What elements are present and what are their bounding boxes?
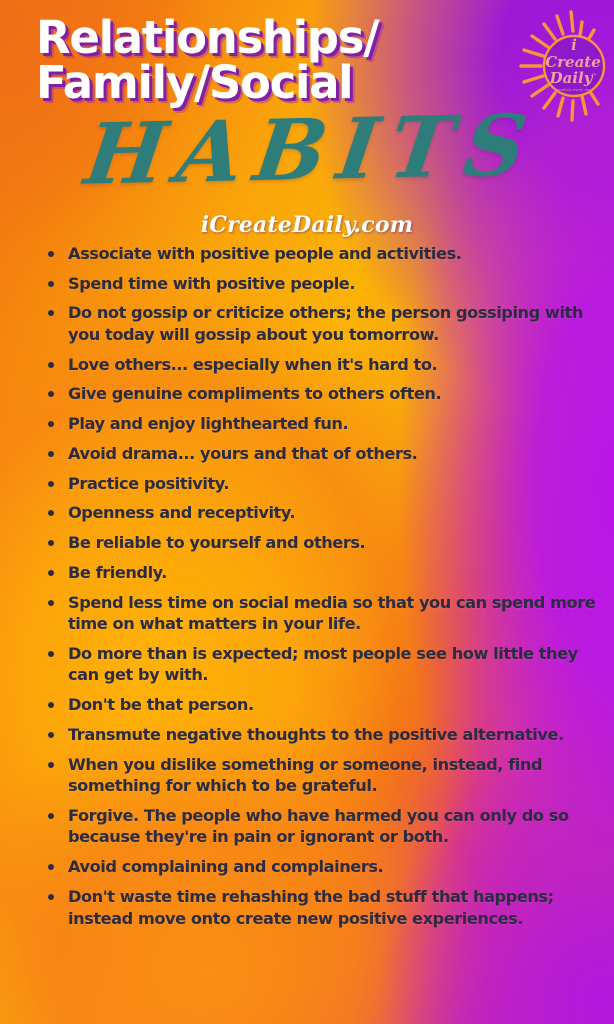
list-item: Avoid drama... yours and that of others. bbox=[64, 443, 596, 465]
list-item: Play and enjoy lighthearted fun. bbox=[64, 413, 596, 435]
list-item: Be reliable to yourself and others. bbox=[64, 532, 596, 554]
list-item: Associate with positive people and activ… bbox=[64, 243, 596, 265]
list-item: Avoid complaining and complainers. bbox=[64, 856, 596, 878]
icreatedaily-sun-logo[interactable]: i Create Daily ™ creativity every day bbox=[514, 6, 608, 126]
list-item: Practice positivity. bbox=[64, 473, 596, 495]
list-item: Openness and receptivity. bbox=[64, 502, 596, 524]
logo-text-daily: Daily bbox=[549, 69, 594, 87]
list-item: Don't be that person. bbox=[64, 694, 596, 716]
list-item: Don't waste time rehashing the bad stuff… bbox=[64, 886, 596, 929]
list-item: Love others... especially when it's hard… bbox=[64, 354, 596, 376]
list-item: When you dislike something or someone, i… bbox=[64, 754, 596, 797]
list-item: Spend time with positive people. bbox=[64, 273, 596, 295]
logo-text-i: i bbox=[571, 36, 577, 54]
list-item: Forgive. The people who have harmed you … bbox=[64, 805, 596, 848]
poster-header: Relationships/ Family/Social HABITS iCre… bbox=[0, 0, 614, 243]
habits-list-container: Associate with positive people and activ… bbox=[0, 243, 614, 929]
habits-list: Associate with positive people and activ… bbox=[42, 243, 596, 929]
website-label: iCreateDaily.com bbox=[0, 212, 614, 238]
list-item: Do not gossip or criticize others; the p… bbox=[64, 302, 596, 345]
list-item: Spend less time on social media so that … bbox=[64, 592, 596, 635]
list-item: Do more than is expected; most people se… bbox=[64, 643, 596, 686]
habits-poster: Relationships/ Family/Social HABITS iCre… bbox=[0, 0, 614, 1024]
logo-trademark: ™ bbox=[591, 73, 597, 80]
list-item: Give genuine compliments to others often… bbox=[64, 383, 596, 405]
list-item: Be friendly. bbox=[64, 562, 596, 584]
logo-tagline: creativity every day bbox=[555, 88, 592, 92]
list-item: Transmute negative thoughts to the posit… bbox=[64, 724, 596, 746]
